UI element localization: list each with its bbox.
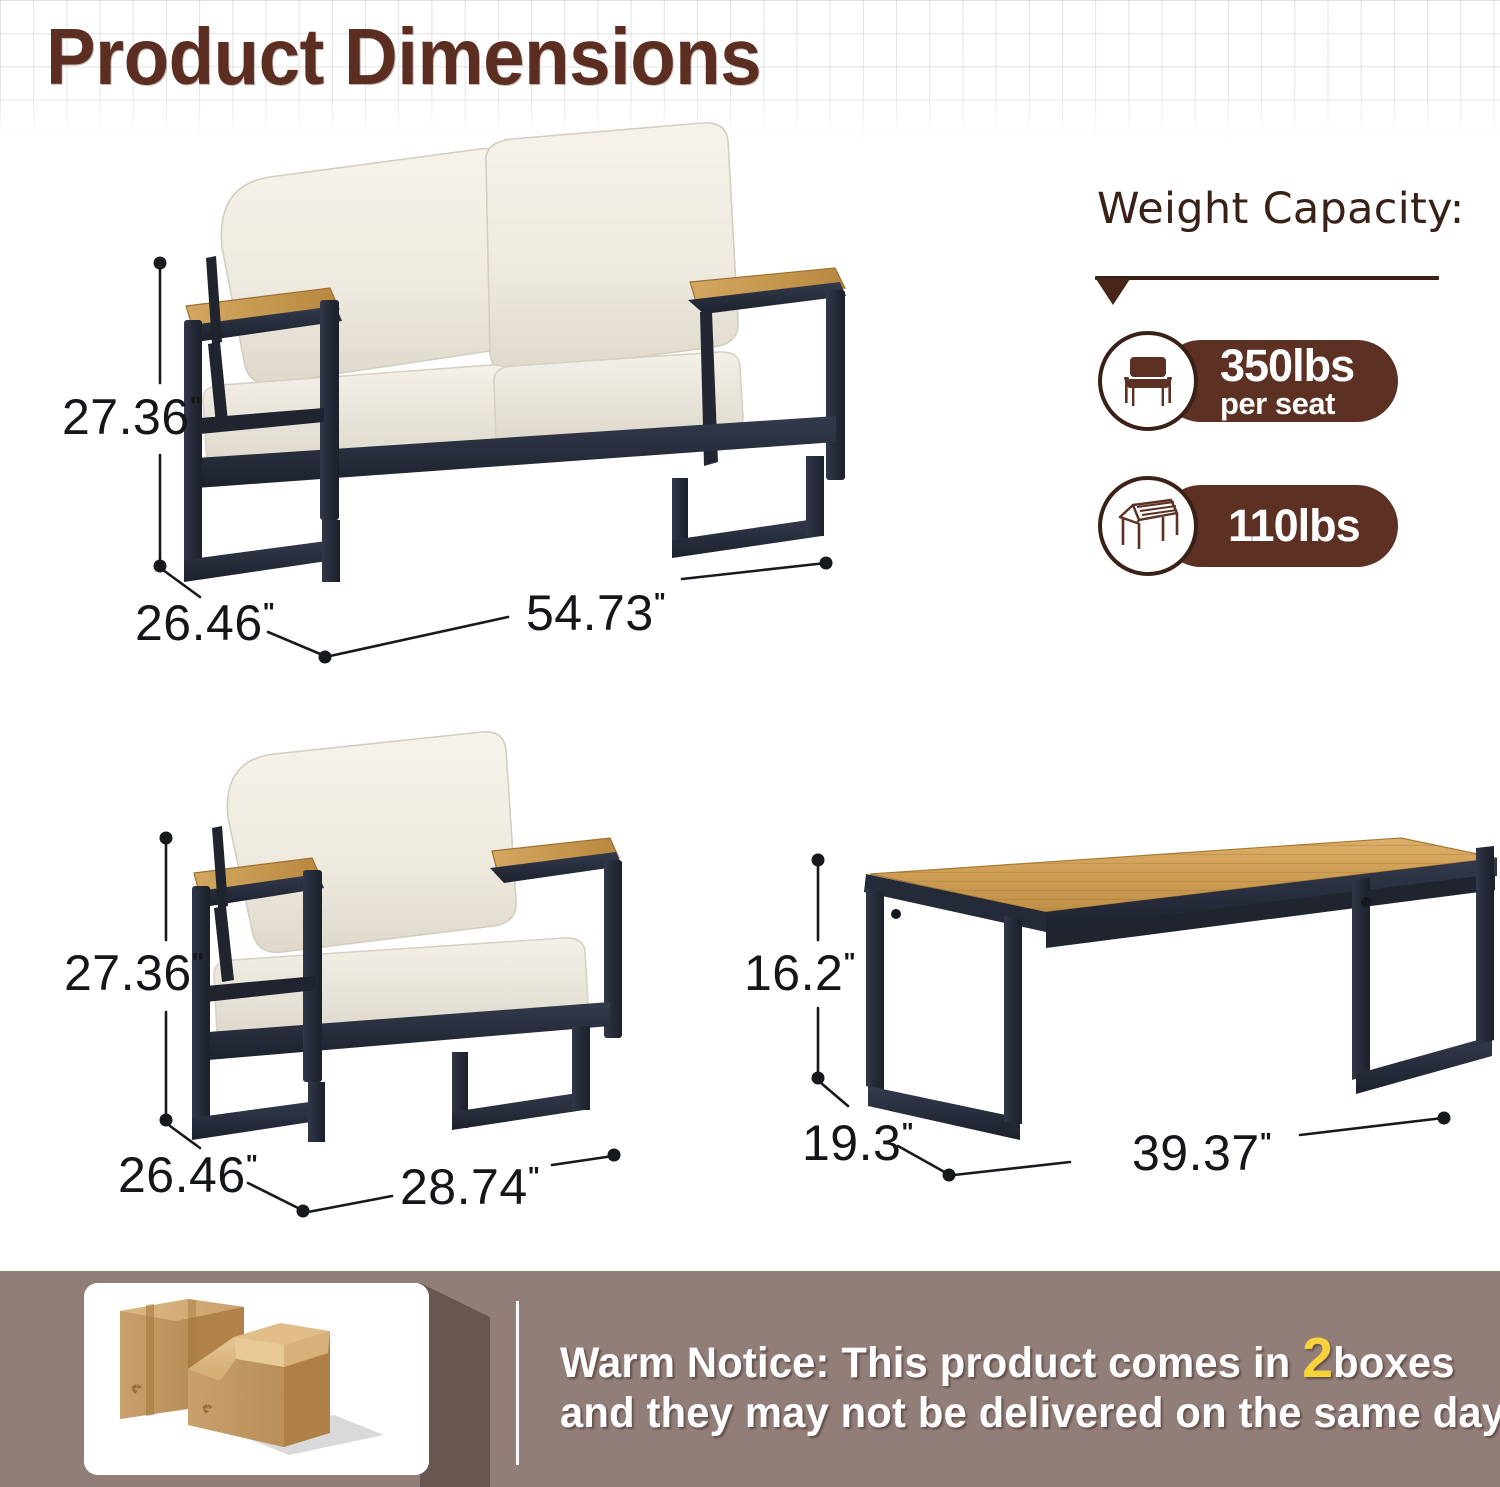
table-height-label: 16.2" — [744, 944, 856, 1002]
notice-line1-after: boxes — [1333, 1339, 1455, 1387]
armchair-depth-label: 26.46" — [118, 1146, 258, 1204]
badge-note: per seat — [1220, 388, 1354, 419]
table-width-label: 39.37" — [1132, 1124, 1272, 1182]
weight-capacity-heading: Weight Capacity: — [1097, 184, 1465, 234]
badge-text: 350lbs per seat — [1220, 340, 1354, 422]
notice-box-count: 2 — [1302, 1326, 1333, 1390]
badge-value: 110lbs — [1228, 504, 1360, 548]
photo-shadow — [420, 1283, 490, 1487]
loveseat-height-label: 27.36" — [62, 388, 202, 446]
badge-value: 350lbs — [1220, 344, 1354, 388]
armchair-icon — [1098, 331, 1198, 431]
cardboard-boxes-photo — [84, 1283, 429, 1475]
weight-capacity-divider — [1095, 276, 1439, 280]
badge-text: 110lbs — [1228, 485, 1360, 567]
weight-badge-seat: 350lbs per seat — [1098, 340, 1398, 422]
armchair-width-label: 28.74" — [400, 1158, 540, 1216]
triangle-pointer-icon — [1096, 279, 1130, 305]
notice-divider — [516, 1301, 519, 1465]
infographic-page: Product Dimensions — [0, 0, 1500, 1487]
armchair-height-label: 27.36" — [64, 944, 204, 1002]
warm-notice-bar: Warm Notice: This product comes in 2boxe… — [0, 1271, 1500, 1487]
coffee-table-illustration — [864, 838, 1500, 1140]
notice-line1-before: Warm Notice: This product comes in — [560, 1339, 1302, 1387]
loveseat-depth-label: 26.46" — [135, 594, 275, 652]
page-title: Product Dimensions — [46, 11, 761, 103]
table-depth-label: 19.3" — [802, 1114, 914, 1172]
loveseat-illustration — [184, 123, 846, 582]
notice-line-2: and they may not be delivered on the sam… — [560, 1389, 1500, 1438]
weight-badge-table: 110lbs — [1098, 485, 1398, 567]
notice-line-1: Warm Notice: This product comes in 2boxe… — [560, 1325, 1455, 1391]
armchair-illustration — [192, 732, 622, 1142]
loveseat-width-label: 54.73" — [526, 584, 666, 642]
table-icon — [1098, 476, 1198, 576]
